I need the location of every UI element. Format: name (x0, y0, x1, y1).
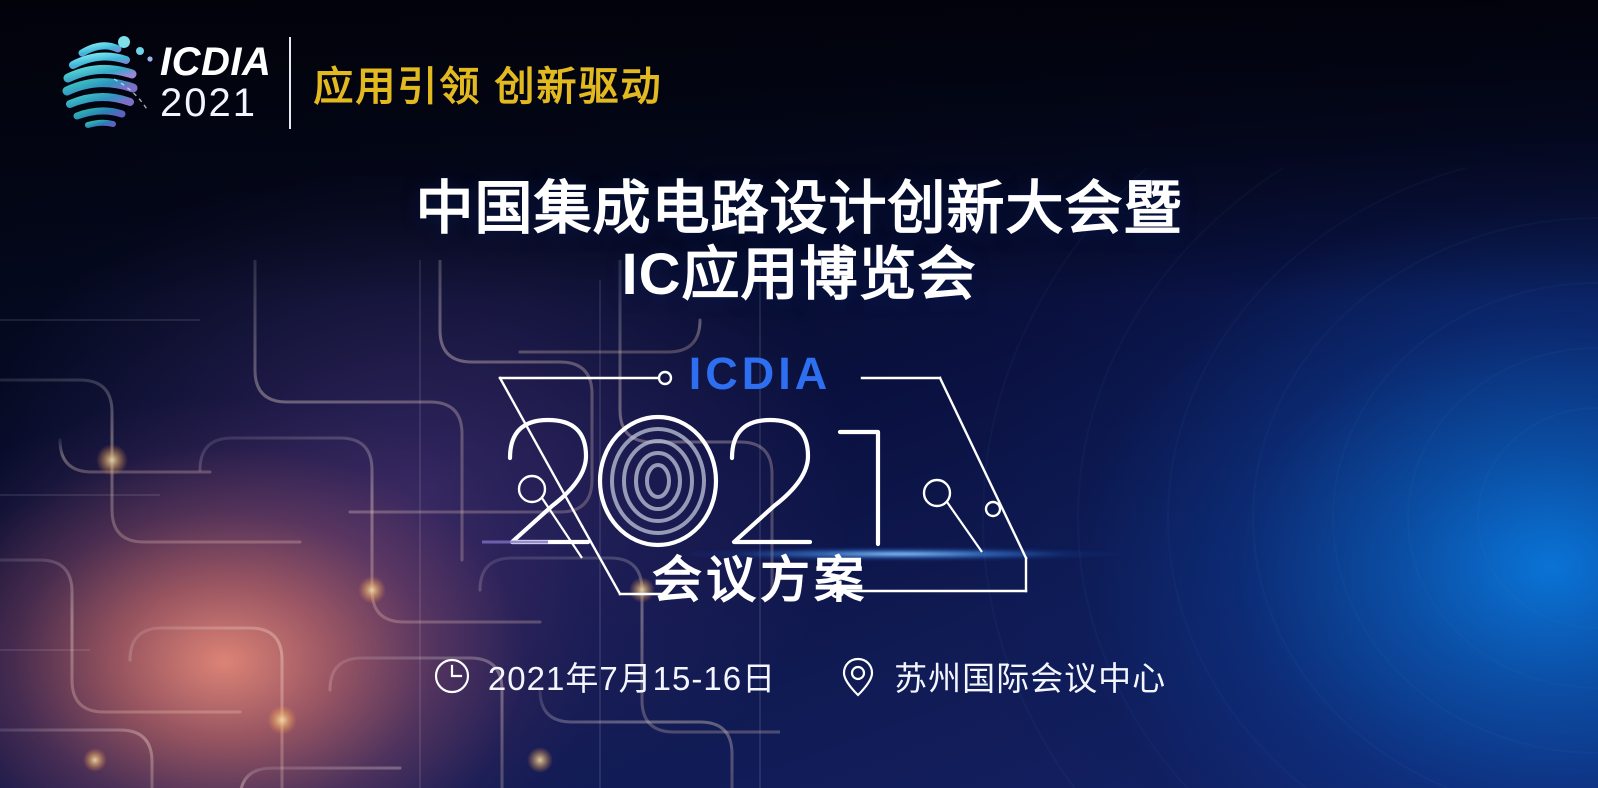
logo-year-text: 2021 (160, 83, 271, 123)
clock-icon (432, 656, 472, 696)
icdia-wordmark: ICDIA 2021 (160, 37, 271, 129)
location-pin-icon (838, 654, 878, 698)
conference-poster: ICDIA 2021 应用引领 创新驱动 中国集成电路设计创新大会暨 IC应用博… (0, 0, 1598, 788)
header-tagline: 应用引领 创新驱动 (313, 54, 662, 112)
event-date: 2021年7月15-16日 (432, 652, 776, 700)
page-title: 中国集成电路设计创新大会暨 IC应用博览会 (0, 176, 1598, 308)
title-line-2: IC应用博览会 (0, 242, 1598, 308)
event-date-text: 2021年7月15-16日 (488, 652, 776, 700)
event-venue-text: 苏州国际会议中心 (894, 652, 1166, 700)
logo-icdia-text: ICDIA (160, 43, 271, 81)
event-emblem: ICDIA 会议方案 (470, 346, 1050, 608)
footer: 2021年7月15-16日 苏州国际会议中心 (0, 652, 1598, 700)
event-venue: 苏州国际会议中心 (838, 652, 1166, 700)
header: ICDIA 2021 应用引领 创新驱动 (52, 26, 663, 140)
icdia-globe-logo-icon (52, 29, 156, 137)
emblem-subtitle: 会议方案 (470, 540, 1050, 612)
header-divider (289, 37, 291, 129)
emblem-icdia-label: ICDIA (470, 348, 1050, 400)
title-line-1: 中国集成电路设计创新大会暨 (0, 176, 1598, 242)
